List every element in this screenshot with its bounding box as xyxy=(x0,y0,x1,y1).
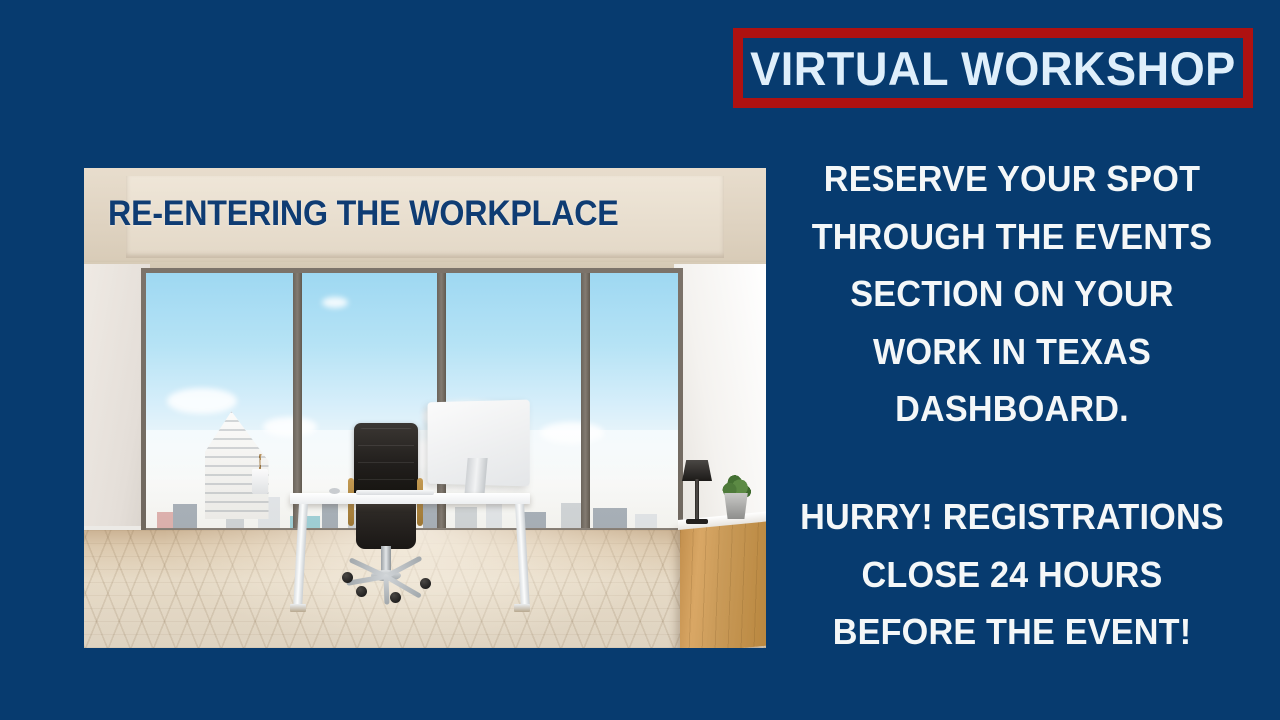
floor-sunlight-sheen xyxy=(166,530,671,648)
desk-foot-left xyxy=(290,604,306,612)
credenza-wood-grain xyxy=(680,518,766,648)
office-chair-caster xyxy=(420,578,431,589)
desk-lamp-shade xyxy=(682,460,712,481)
paragraph-spacer xyxy=(786,438,1238,488)
office-chair-backrest xyxy=(354,423,418,499)
banner-title: VIRTUAL WORKSHOP xyxy=(750,41,1236,96)
wooden-credenza xyxy=(680,518,766,648)
workshop-photo-card: RE-ENTERING THE WORKPLACE xyxy=(84,168,766,648)
office-chair-spoke xyxy=(383,574,389,604)
cloud xyxy=(322,297,348,308)
office-chair-caster xyxy=(342,572,353,583)
desk-lamp-base xyxy=(686,519,708,524)
desk-foot-right xyxy=(514,604,530,612)
virtual-workshop-banner: VIRTUAL WORKSHOP xyxy=(733,28,1253,108)
instructions-paragraph-2: HURRY! REGISTRATIONS CLOSE 24 HOURS BEFO… xyxy=(797,488,1226,661)
herringbone-floor xyxy=(84,530,766,648)
office-photo: RE-ENTERING THE WORKPLACE xyxy=(84,168,766,648)
mouse xyxy=(329,488,340,494)
photo-overlay-title: RE-ENTERING THE WORKPLACE xyxy=(108,194,697,234)
keyboard xyxy=(356,490,434,495)
event-instructions: RESERVE YOUR SPOT THROUGH THE EVENTS SEC… xyxy=(786,150,1238,661)
pencil-cup xyxy=(252,469,268,494)
office-chair-caster xyxy=(390,592,401,603)
office-chair-caster xyxy=(356,586,367,597)
cloud xyxy=(167,388,237,414)
window-mullion xyxy=(581,273,590,535)
monitor-stand-neck xyxy=(464,458,487,496)
instructions-paragraph-1: RESERVE YOUR SPOT THROUGH THE EVENTS SEC… xyxy=(797,150,1226,438)
desk-lamp-stem xyxy=(695,479,699,521)
office-chair-seat xyxy=(356,499,416,549)
